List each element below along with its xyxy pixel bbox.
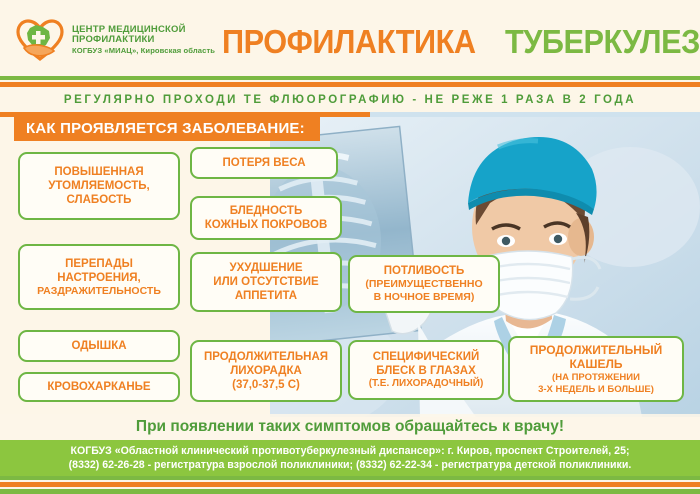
symptom-line: ПРОДОЛЖИТЕЛЬНАЯ — [204, 350, 328, 364]
symptom-box-prolonged-cough: ПРОДОЛЖИТЕЛЬНЫЙ КАШЕЛЬ (НА ПРОТЯЖЕНИИ 3-… — [508, 336, 684, 402]
symptom-box-hemoptysis: КРОВОХАРКАНЬЕ — [18, 372, 180, 402]
symptom-line: БЛЕДНОСТЬ — [230, 204, 302, 218]
symptom-line: КАШЕЛЬ — [569, 357, 622, 372]
symptom-line: УХУДШЕНИЕ — [229, 261, 302, 275]
symptom-line: АППЕТИТА — [235, 289, 297, 303]
footer-address: КОГБУЗ «Областной клинический противотуб… — [70, 445, 629, 457]
symptom-line: ПРОДОЛЖИТЕЛЬНЫЙ — [530, 343, 663, 358]
symptom-line: ЛИХОРАДКА — [230, 364, 302, 378]
symptom-line: ИЛИ ОТСУТСТВИЕ — [213, 275, 318, 289]
title-prophylaxis: ПРОФИЛАКТИКА — [222, 23, 476, 61]
call-to-action-text: При появлении таких симптомов обращайтес… — [136, 418, 564, 436]
symptom-line: СЛАБОСТЬ — [67, 193, 132, 207]
section-heading: КАК ПРОЯВЛЯЕТСЯ ЗАБОЛЕВАНИЕ: — [14, 115, 320, 141]
symptom-box-prolonged-fever: ПРОДОЛЖИТЕЛЬНАЯ ЛИХОРАДКА (37,0-37,5 С) — [190, 340, 342, 402]
organization-logo: ЦЕНТР МЕДИЦИНСКОЙ ПРОФИЛАКТИКИ КОГБУЗ «М… — [16, 18, 215, 62]
symptom-line: КРОВОХАРКАНЬЕ — [47, 380, 150, 394]
poster-root: ЦЕНТР МЕДИЦИНСКОЙ ПРОФИЛАКТИКИ КОГБУЗ «М… — [0, 0, 700, 494]
symptom-line: 3-Х НЕДЕЛЬ И БОЛЬШЕ) — [538, 384, 654, 396]
symptom-box-eye-shine: СПЕЦИФИЧЕСКИЙ БЛЕСК В ГЛАЗАХ (Т.Е. ЛИХОР… — [348, 340, 504, 400]
symptom-line: СПЕЦИФИЧЕСКИЙ — [373, 350, 480, 364]
title-tuberculosis: ТУБЕРКУЛЕЗА — [505, 23, 700, 61]
fluorography-banner: РЕГУЛЯРНО ПРОХОДИ ТЕ ФЛЮОРОГРАФИЮ - НЕ Р… — [0, 88, 700, 112]
symptom-box-sweating: ПОТЛИВОСТЬ (ПРЕИМУЩЕСТВЕННО В НОЧНОЕ ВРЕ… — [348, 255, 500, 313]
symptom-line: ПОТЛИВОСТЬ — [384, 264, 465, 278]
symptom-box-pale-skin: БЛЕДНОСТЬ КОЖНЫХ ПОКРОВОВ — [190, 196, 342, 240]
footer-contact: КОГБУЗ «Областной клинический противотуб… — [0, 440, 700, 476]
symptom-line: НАСТРОЕНИЯ, — [57, 271, 141, 285]
symptom-line: (НА ПРОТЯЖЕНИИ — [552, 372, 640, 384]
symptom-box-appetite-loss: УХУДШЕНИЕ ИЛИ ОТСУТСТВИЕ АППЕТИТА — [190, 252, 342, 312]
call-to-action: При появлении таких симптомов обращайтес… — [0, 414, 700, 440]
symptom-line: ПЕРЕПАДЫ — [65, 257, 133, 271]
fluorography-banner-text: РЕГУЛЯРНО ПРОХОДИ ТЕ ФЛЮОРОГРАФИЮ - НЕ Р… — [64, 94, 636, 106]
symptom-line: (37,0-37,5 С) — [232, 378, 300, 392]
poster-header: ЦЕНТР МЕДИЦИНСКОЙ ПРОФИЛАКТИКИ КОГБУЗ «М… — [0, 0, 700, 76]
logo-line-2: ПРОФИЛАКТИКИ — [72, 35, 215, 46]
symptom-line: УТОМЛЯЕМОСТЬ, — [48, 179, 149, 193]
symptom-box-fatigue: ПОВЫШЕННАЯ УТОМЛЯЕМОСТЬ, СЛАБОСТЬ — [18, 152, 180, 220]
symptom-line: ПОВЫШЕННАЯ — [54, 165, 143, 179]
symptom-box-weight-loss: ПОТЕРЯ ВЕСА — [190, 147, 338, 179]
heart-hands-map-logo-icon — [16, 18, 64, 62]
logo-line-3: КОГБУЗ «МИАЦ», Кировская область — [72, 47, 215, 56]
symptom-line: БЛЕСК В ГЛАЗАХ — [376, 364, 476, 378]
symptom-box-shortness-of-breath: ОДЫШКА — [18, 330, 180, 362]
poster-title: ПРОФИЛАКТИКА ТУБЕРКУЛЕЗА — [222, 20, 700, 64]
symptom-line: В НОЧНОЕ ВРЕМЯ) — [374, 291, 475, 304]
symptom-line: (ПРЕИМУЩЕСТВЕННО — [365, 278, 482, 291]
symptom-line: ОДЫШКА — [71, 339, 126, 353]
symptom-box-mood-swings: ПЕРЕПАДЫ НАСТРОЕНИЯ, РАЗДРАЖИТЕЛЬНОСТЬ — [18, 244, 180, 310]
symptom-line: ПОТЕРЯ ВЕСА — [222, 156, 305, 170]
symptom-line: РАЗДРАЖИТЕЛЬНОСТЬ — [37, 285, 161, 298]
section-heading-text: КАК ПРОЯВЛЯЕТСЯ ЗАБОЛЕВАНИЕ: — [26, 120, 305, 137]
footer-phones: (8332) 62-26-28 - регистратура взрослой … — [69, 459, 632, 471]
symptom-line: (Т.Е. ЛИХОРАДОЧНЫЙ) — [369, 378, 484, 390]
divider-orange-top — [0, 82, 700, 87]
symptom-line: КОЖНЫХ ПОКРОВОВ — [205, 218, 328, 232]
divider-green-bottom-2 — [0, 489, 700, 494]
